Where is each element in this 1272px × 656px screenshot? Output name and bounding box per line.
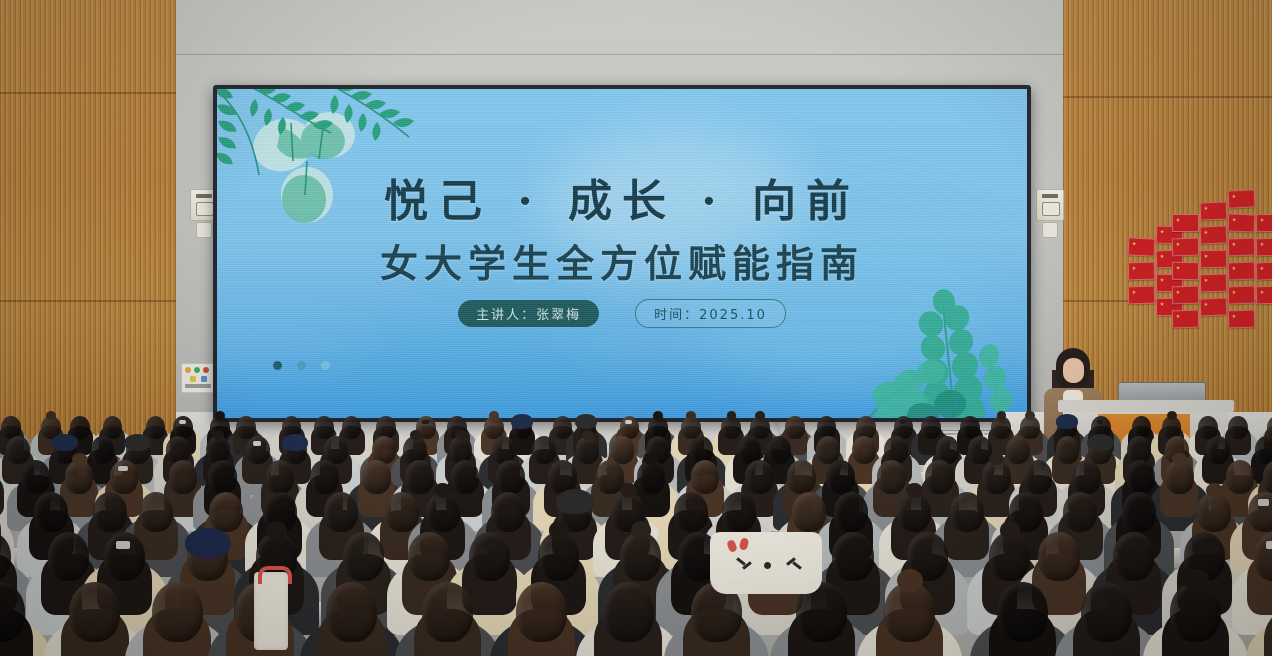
audience-member-hair-bun bbox=[582, 430, 594, 441]
audience-member-hair-bun bbox=[653, 411, 663, 420]
audience-member-head bbox=[69, 582, 120, 642]
audience-member-head bbox=[852, 436, 876, 464]
audience-member-head bbox=[342, 416, 362, 439]
audience-member-hair-bun bbox=[631, 521, 652, 540]
slide-subtitle: 女大学生全方位赋能指南 bbox=[217, 233, 1027, 288]
audience-member-head bbox=[1248, 492, 1272, 532]
pagination-dot-2[interactable] bbox=[297, 361, 306, 370]
flag-tile bbox=[1256, 214, 1272, 232]
flag-tile bbox=[1172, 214, 1199, 232]
audience-member-head bbox=[326, 582, 377, 642]
slide-pagination-dots[interactable] bbox=[273, 361, 330, 370]
audience-member-head bbox=[491, 492, 525, 532]
audience-member-head bbox=[787, 460, 816, 494]
audience-member-head bbox=[576, 436, 600, 464]
flag-tile bbox=[1228, 238, 1256, 257]
audience-member-head bbox=[93, 492, 127, 532]
audience-member-hair-clip bbox=[625, 420, 632, 424]
audience-member-head bbox=[104, 532, 145, 581]
audience-member-head bbox=[1072, 460, 1101, 494]
audience-member-head bbox=[1197, 492, 1231, 532]
audience-member-head bbox=[208, 460, 237, 494]
audience-member-head bbox=[496, 460, 525, 494]
audience-member-head bbox=[1056, 436, 1080, 464]
audience-member-head bbox=[1228, 416, 1248, 439]
audience-member-cap bbox=[1087, 434, 1114, 451]
audience-member-cap bbox=[511, 414, 533, 428]
speaker-face bbox=[1063, 358, 1084, 383]
cat-face-bag bbox=[710, 532, 822, 594]
audience-member-hair-bun bbox=[906, 483, 923, 498]
audience-member-head bbox=[310, 460, 339, 494]
audience-member-head bbox=[516, 582, 567, 642]
audience-member-hair-clip bbox=[116, 541, 130, 549]
audience-member-head bbox=[637, 460, 666, 494]
audience-seating-area bbox=[0, 406, 1272, 656]
audience-member-head bbox=[314, 416, 334, 439]
audience-member-hair-clip bbox=[1097, 420, 1104, 424]
audience-member-head bbox=[1006, 436, 1030, 464]
slide-title: 悦己 · 成长 · 向前 bbox=[217, 165, 1027, 229]
audience-member-hair-bun bbox=[1000, 521, 1021, 540]
audience-member-head bbox=[1081, 582, 1132, 642]
audience-member-head bbox=[422, 582, 473, 642]
audience-member-cap bbox=[185, 528, 231, 558]
audience-member-hair-bun bbox=[620, 483, 637, 498]
leaf-decoration-bottom-right bbox=[805, 272, 1025, 422]
audience-member-hair-bun bbox=[686, 411, 696, 420]
audience-member-hair-clip bbox=[774, 441, 782, 445]
audience-member-cap bbox=[1056, 414, 1078, 428]
audience-member-head bbox=[1226, 460, 1255, 494]
slide-badge-group: 主讲人：张翠梅 时间：2025.10 bbox=[217, 299, 1027, 328]
audience-member-hair-bun bbox=[1183, 569, 1209, 592]
date-badge: 时间：2025.10 bbox=[635, 299, 786, 328]
flag-tile bbox=[1200, 297, 1228, 316]
audience-member-hair-bun bbox=[1172, 453, 1186, 466]
audience-member-hair-bun bbox=[266, 521, 287, 540]
audience-member-hair-bun bbox=[897, 569, 923, 592]
audience-member-head bbox=[362, 460, 391, 494]
audience-member-hair-bun bbox=[455, 430, 467, 441]
audience-member-hair-bun bbox=[1167, 411, 1177, 420]
audience-member-head bbox=[897, 492, 931, 532]
audience-member-head bbox=[792, 492, 826, 532]
audience-member-head bbox=[997, 582, 1048, 642]
audience-member-head bbox=[1122, 492, 1156, 532]
flag-tile bbox=[1128, 286, 1156, 305]
audience-member-cap bbox=[575, 414, 597, 428]
audience-member-head bbox=[1206, 436, 1230, 464]
speaker-badge: 主讲人：张翠梅 bbox=[458, 300, 599, 327]
audience-member-head bbox=[1024, 460, 1053, 494]
audience-member-head bbox=[745, 460, 774, 494]
audience-member-head bbox=[722, 492, 756, 532]
audience-member-head bbox=[921, 416, 941, 439]
audience-member-head bbox=[91, 436, 115, 464]
audience-member-hair-clip bbox=[422, 420, 429, 424]
audience-member-head bbox=[6, 436, 30, 464]
audience-member-head bbox=[426, 492, 460, 532]
audience-member-hair-bun bbox=[46, 411, 56, 420]
audience-member-head bbox=[266, 460, 295, 494]
audience-member-head bbox=[1126, 460, 1155, 494]
audience-member-head bbox=[968, 436, 992, 464]
audience-member-hair-bun bbox=[215, 411, 225, 420]
audience-member-head bbox=[1113, 532, 1154, 581]
audience-member-cap bbox=[556, 489, 594, 514]
pagination-dot-3[interactable] bbox=[321, 361, 330, 370]
flag-tile bbox=[1128, 237, 1156, 256]
audience-member-hair-clip bbox=[1266, 541, 1272, 549]
audience-member-hair-bun bbox=[755, 411, 765, 420]
audience-member-hair-bun bbox=[1025, 411, 1035, 420]
flag-tile bbox=[1200, 250, 1227, 269]
audience-member-head bbox=[925, 460, 954, 494]
audience-member-head bbox=[532, 436, 556, 464]
audience-member-head bbox=[826, 460, 855, 494]
audience-member-hair-bun bbox=[489, 411, 499, 420]
audience-member-hair-clip bbox=[481, 541, 495, 549]
audience-member-cap bbox=[282, 434, 309, 451]
audience-member-head bbox=[21, 460, 50, 494]
audience-member-head bbox=[343, 532, 384, 581]
audience-member-head bbox=[169, 460, 198, 494]
flag-tile bbox=[1172, 310, 1200, 329]
audience-member-head bbox=[152, 582, 203, 642]
audience-member-hair-bun bbox=[997, 411, 1007, 420]
audience-member-cap bbox=[124, 434, 151, 451]
audience-member-head bbox=[674, 492, 708, 532]
tote-bag-handle bbox=[258, 566, 292, 584]
flag-tile bbox=[1228, 285, 1256, 304]
audience-member-head bbox=[603, 582, 654, 642]
audience-member-head bbox=[405, 460, 434, 494]
wood-panel-left bbox=[0, 0, 176, 443]
audience-member-head bbox=[65, 460, 94, 494]
pagination-dot-1[interactable] bbox=[273, 361, 282, 370]
audience-member-head bbox=[385, 492, 419, 532]
audience-member-head bbox=[451, 460, 480, 494]
audience-member-head bbox=[950, 492, 984, 532]
audience-member-head bbox=[1063, 492, 1097, 532]
flag-tile bbox=[1128, 262, 1156, 281]
audience-member-hair-clip bbox=[179, 420, 186, 424]
audience-member-head bbox=[408, 532, 449, 581]
flag-tile bbox=[1172, 262, 1199, 280]
audience-member-head bbox=[1165, 460, 1194, 494]
audience-member-hair-bun bbox=[989, 453, 1003, 466]
flag-tile bbox=[1256, 261, 1272, 280]
audience-member-head bbox=[139, 492, 173, 532]
audience-member-hair-bun bbox=[72, 453, 86, 466]
audience-member-head bbox=[982, 460, 1011, 494]
flag-tile bbox=[1228, 189, 1256, 208]
audience-member-hair-bun bbox=[727, 411, 737, 420]
audience-member-hair-clip bbox=[900, 420, 907, 424]
flag-tile bbox=[1172, 238, 1200, 257]
wall-socket-right[interactable] bbox=[1042, 222, 1058, 238]
audience-member-head bbox=[1255, 436, 1272, 464]
audience-member-head bbox=[48, 532, 89, 581]
audience-member-hair-bun bbox=[549, 521, 570, 540]
audience-member-head bbox=[236, 416, 256, 439]
chinese-flag-wall-decoration bbox=[1128, 186, 1272, 338]
wall-socket-left[interactable] bbox=[196, 222, 212, 238]
audience-member-head bbox=[324, 492, 358, 532]
audience-member-cap bbox=[51, 434, 78, 451]
audience-member-head bbox=[785, 416, 805, 439]
flag-tile bbox=[1200, 225, 1228, 244]
audience-member-head bbox=[209, 492, 243, 532]
flag-tile bbox=[1172, 286, 1200, 305]
audience-member-head bbox=[110, 460, 139, 494]
audience-member-hair-clip bbox=[253, 441, 261, 445]
flag-tile bbox=[1256, 238, 1272, 257]
wall-control-box-right[interactable] bbox=[1036, 189, 1064, 221]
audience-member-head bbox=[469, 532, 510, 581]
lecture-hall-photo: 悦己 · 成长 · 向前 女大学生全方位赋能指南 主讲人：张翠梅 时间：2025… bbox=[0, 0, 1272, 656]
audience-member-head bbox=[146, 416, 166, 439]
audience-member-head bbox=[832, 532, 873, 581]
audience-member-head bbox=[691, 460, 720, 494]
audience-member-head bbox=[877, 460, 906, 494]
flag-tile bbox=[1200, 201, 1228, 220]
audience-member-hair-clip bbox=[118, 466, 128, 471]
flag-tile bbox=[1228, 261, 1256, 280]
flag-tile bbox=[1228, 310, 1256, 329]
audience-member-head bbox=[34, 492, 68, 532]
led-presentation-screen[interactable]: 悦己 · 成长 · 向前 女大学生全方位赋能指南 主讲人：张翠梅 时间：2025… bbox=[213, 85, 1031, 422]
audience-member-hair-clip bbox=[1258, 499, 1270, 505]
safety-sticker-placard bbox=[181, 363, 217, 393]
flag-tile bbox=[1228, 213, 1256, 232]
flag-tile bbox=[1256, 286, 1272, 305]
audience-member-head bbox=[1038, 532, 1079, 581]
flag-tile bbox=[1200, 274, 1227, 293]
audience-member-head bbox=[834, 492, 868, 532]
